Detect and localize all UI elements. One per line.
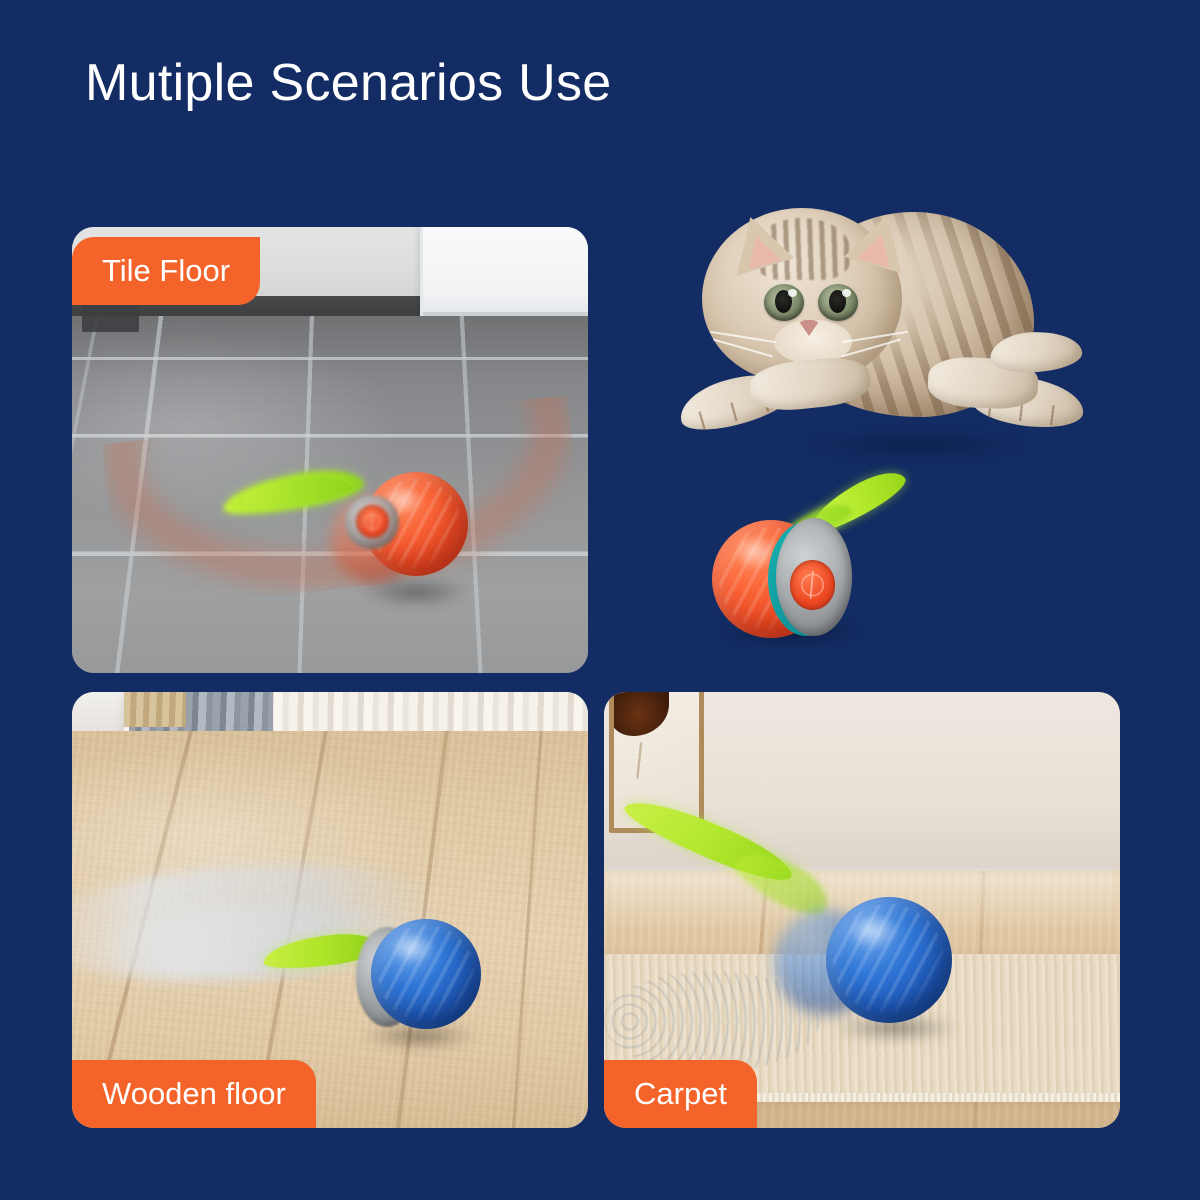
badge-label: Tile Floor xyxy=(102,255,230,286)
badge-carpet: Carpet xyxy=(604,1060,757,1128)
panel-wooden-floor[interactable]: Wooden floor xyxy=(72,692,588,1128)
product-ball-blue xyxy=(826,897,952,1023)
badge-label: Wooden floor xyxy=(102,1078,286,1109)
power-button[interactable] xyxy=(790,560,836,610)
brand-logo-icon xyxy=(363,513,381,531)
badge-label: Carpet xyxy=(634,1078,727,1109)
hero-product-image xyxy=(706,480,916,645)
product-ball-blue xyxy=(371,919,481,1029)
cat-eye-right xyxy=(818,284,858,321)
power-button[interactable] xyxy=(356,505,388,537)
panel-tile-floor[interactable]: Tile Floor xyxy=(72,227,588,673)
ball-highlight xyxy=(851,915,899,950)
ball-cap xyxy=(776,518,852,636)
ball-highlight xyxy=(393,934,435,965)
page-title: Mutiple Scenarios Use xyxy=(85,52,612,114)
ball-cap xyxy=(345,495,399,549)
curtain-tan-section xyxy=(124,692,186,727)
badge-tile-floor: Tile Floor xyxy=(72,237,260,305)
cat-shadow xyxy=(802,434,1032,456)
ear-inner xyxy=(857,230,898,268)
poster-stage: Mutiple Scenarios Use xyxy=(0,0,1200,1200)
panel-carpet[interactable]: Carpet xyxy=(604,692,1120,1128)
badge-wooden-floor: Wooden floor xyxy=(72,1060,316,1128)
brand-logo-icon xyxy=(800,571,826,599)
cat-eye-left xyxy=(764,284,804,321)
white-cabinet xyxy=(420,227,588,325)
hero-cat-image xyxy=(672,182,1092,482)
cat-head xyxy=(702,208,902,383)
